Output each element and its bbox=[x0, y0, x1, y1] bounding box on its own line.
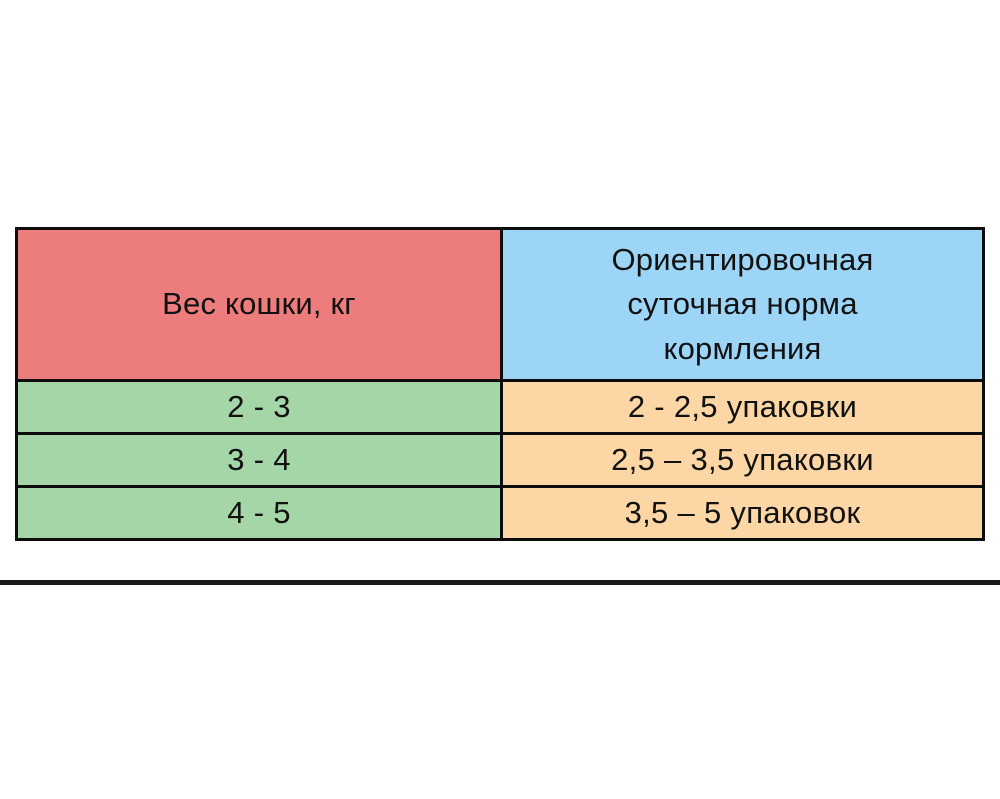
table-row: 2 - 3 2 - 2,5 упаковки bbox=[17, 381, 984, 434]
page-canvas: Вес кошки, кг Ориентировочная суточная н… bbox=[0, 0, 1000, 799]
feeding-norms-table: Вес кошки, кг Ориентировочная суточная н… bbox=[15, 227, 985, 541]
value-daily-norm-2: 2,5 – 3,5 упаковки bbox=[503, 443, 982, 477]
cell-daily-norm-3: 3,5 – 5 упаковок bbox=[502, 487, 984, 540]
cell-weight-range-3: 4 - 5 bbox=[17, 487, 502, 540]
table-header-row: Вес кошки, кг Ориентировочная суточная н… bbox=[17, 229, 984, 381]
value-weight-range-3: 4 - 5 bbox=[18, 496, 500, 530]
header-label-daily-norm-line-1: Ориентировочная bbox=[509, 238, 976, 282]
header-label-daily-norm: Ориентировочная суточная норма кормления bbox=[503, 238, 982, 370]
header-label-daily-norm-line-3: кормления bbox=[509, 327, 976, 371]
value-weight-range-2: 3 - 4 bbox=[18, 443, 500, 477]
value-weight-range-1: 2 - 3 bbox=[18, 390, 500, 424]
value-daily-norm-1: 2 - 2,5 упаковки bbox=[503, 390, 982, 424]
header-cell-cat-weight: Вес кошки, кг bbox=[17, 229, 502, 381]
value-daily-norm-3: 3,5 – 5 упаковок bbox=[503, 496, 982, 530]
cell-weight-range-1: 2 - 3 bbox=[17, 381, 502, 434]
header-label-daily-norm-line-2: суточная норма bbox=[509, 282, 976, 326]
cell-weight-range-2: 3 - 4 bbox=[17, 434, 502, 487]
header-cell-daily-norm: Ориентировочная суточная норма кормления bbox=[502, 229, 984, 381]
header-label-cat-weight: Вес кошки, кг bbox=[18, 287, 500, 322]
cell-daily-norm-2: 2,5 – 3,5 упаковки bbox=[502, 434, 984, 487]
horizontal-divider-rule bbox=[0, 580, 1000, 585]
cell-daily-norm-1: 2 - 2,5 упаковки bbox=[502, 381, 984, 434]
table-row: 3 - 4 2,5 – 3,5 упаковки bbox=[17, 434, 984, 487]
table-row: 4 - 5 3,5 – 5 упаковок bbox=[17, 487, 984, 540]
